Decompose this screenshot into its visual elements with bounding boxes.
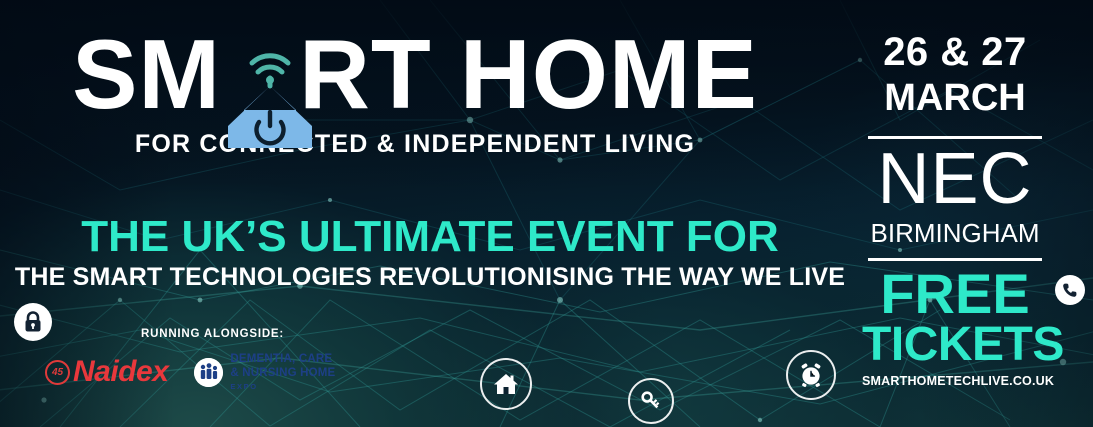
event-month: MARCH [862, 78, 1048, 118]
dcnh-line-1: DEMENTIA, CARE [230, 353, 332, 365]
logo-subtitle: FOR CONNECTED & INDEPENDENT LIVING [0, 130, 830, 159]
phone-icon [1055, 275, 1085, 305]
key-icon [628, 378, 674, 424]
naidex-wordmark: Naidex [73, 355, 168, 389]
dementia-care-wordmark: DEMENTIA, CARE & NURSING HOME EXPO [230, 352, 335, 393]
tagline-secondary: THE SMART TECHNOLOGIES REVOLUTIONISING T… [0, 263, 860, 291]
padlock-icon [14, 303, 52, 341]
logo-wordmark: SMRT HOME [0, 26, 830, 122]
partner-logos: 45 Naidex DEMENTIA, CARE & NURSING HOME … [45, 352, 335, 393]
logo-word-right: RT HOME [299, 19, 758, 129]
dementia-care-people-icon [194, 358, 223, 387]
event-dates: 26 & 27 [862, 32, 1048, 72]
dcnh-line-2: & NURSING HOME [230, 367, 335, 379]
home-icon [480, 358, 532, 410]
smart-home-event-banner: SMRT HOME FOR CONN [0, 0, 1093, 427]
event-logo: SMRT HOME FOR CONN [0, 26, 830, 159]
event-details-panel: 26 & 27 MARCH NEC BIRMINGHAM FREE TICKET… [862, 0, 1048, 427]
partner-logo-dementia-care-expo[interactable]: DEMENTIA, CARE & NURSING HOME EXPO [194, 352, 335, 393]
partner-logo-naidex[interactable]: 45 Naidex [45, 355, 168, 389]
tagline-primary: THE UK’S ULTIMATE EVENT FOR [0, 214, 860, 260]
smart-home-house-wifi-logo [218, 36, 322, 148]
event-website-url[interactable]: SMARTHOMETECHLIVE.CO.UK [862, 374, 1048, 388]
event-venue: NEC [862, 142, 1048, 216]
panel-divider-bottom [868, 258, 1042, 261]
logo-word-left: SM [72, 19, 221, 129]
tagline-block: THE UK’S ULTIMATE EVENT FOR THE SMART TE… [0, 214, 860, 291]
event-city: BIRMINGHAM [862, 219, 1048, 247]
alarm-clock-icon [786, 350, 836, 400]
free-tickets-line-1: FREE [862, 266, 1048, 322]
dcnh-line-3: EXPO [230, 382, 257, 391]
naidex-anniversary-badge: 45 [45, 360, 70, 385]
partners-heading: RUNNING ALONGSIDE: [141, 328, 284, 340]
free-tickets-line-2: TICKETS [862, 321, 1048, 369]
